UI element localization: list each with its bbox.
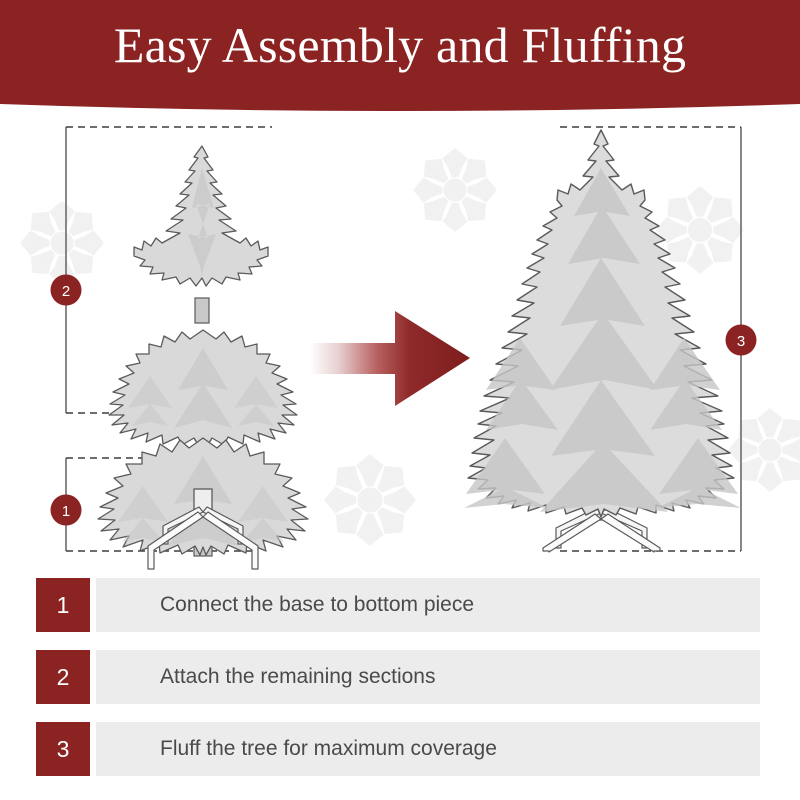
tree-section-top [134,146,268,323]
bracket-badge-1-label: 1 [62,503,70,520]
snowflake-icon [20,201,104,285]
snowflake-icon [728,408,800,492]
legend-list: 1 Connect the base to bottom piece 2 Att… [0,572,800,800]
bracket-badge-3-label: 3 [737,333,745,350]
diagram-canvas: 2 1 3 [0,108,800,570]
legend-number-badge: 1 [36,578,90,632]
snowflake-icon [324,454,416,546]
assembly-diagram: 2 1 3 [0,108,800,570]
bracket-badge-3: 3 [726,325,757,356]
transformation-arrow [310,311,470,406]
legend-number-badge: 2 [36,650,90,704]
header-banner: Easy Assembly and Fluffing [0,0,800,112]
legend-step-text: Connect the base to bottom piece [160,578,474,632]
disassembled-tree [98,146,308,569]
tree-section-upper-middle [109,330,297,446]
legend-step-text: Fluff the tree for maximum coverage [160,722,497,776]
page-title: Easy Assembly and Fluffing [0,16,800,74]
bracket-badge-1: 1 [51,495,82,526]
legend-row: 1 Connect the base to bottom piece [36,578,760,632]
legend-step-text: Attach the remaining sections [160,650,435,704]
legend-row: 3 Fluff the tree for maximum coverage [36,722,760,776]
snowflake-icon [656,186,744,274]
bracket-badge-2-label: 2 [62,283,70,300]
legend-row: 2 Attach the remaining sections [36,650,760,704]
snowflake-icon [413,148,497,232]
infographic-page: Easy Assembly and Fluffing [0,0,800,800]
legend-number-badge: 3 [36,722,90,776]
bracket-badge-2: 2 [51,275,82,306]
